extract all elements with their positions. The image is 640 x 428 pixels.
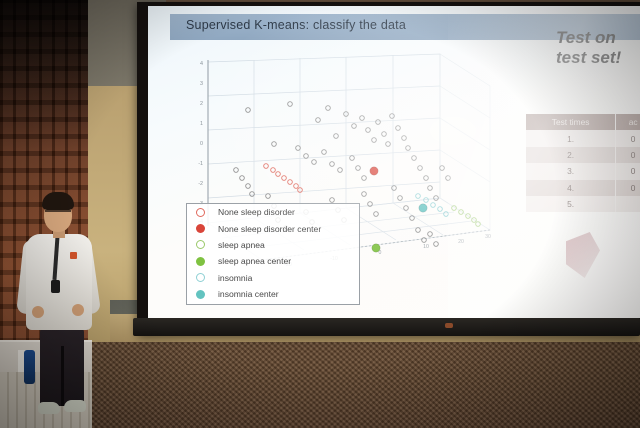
scatter-point (402, 136, 407, 141)
scatter-point (446, 176, 451, 181)
svg-text:-2: -2 (198, 181, 203, 187)
legend-row: insomnia center (187, 286, 359, 302)
legend-label: None sleep disorder center (218, 224, 321, 234)
cell-accuracy: 0 (616, 147, 640, 163)
scatter-point (386, 142, 391, 147)
scatter-point (366, 128, 371, 133)
cell-test-time: 3. (526, 163, 616, 179)
scatter-point (398, 196, 403, 201)
legend-marker-icon (196, 224, 205, 233)
table-header-test-times: Test times (526, 114, 616, 130)
scatter-point (419, 204, 427, 212)
scatter-point (322, 150, 327, 155)
glasses-icon (45, 210, 71, 217)
presenter (18, 188, 110, 428)
presenter-left-hand (32, 306, 44, 318)
svg-text:3: 3 (200, 81, 203, 87)
cell-test-time: 2. (526, 147, 616, 163)
svg-text:10: 10 (423, 244, 429, 250)
legend-label: insomnia center (218, 289, 279, 299)
scatter-point (362, 192, 367, 197)
y-axis-ticks: 43 21 0-1 -2-3 -4 (198, 61, 203, 225)
cell-accuracy (616, 196, 640, 212)
scatter-point (288, 180, 293, 185)
cell-accuracy: 0 (616, 163, 640, 179)
plot-right-wall-grid (440, 54, 490, 230)
scatter-point (362, 176, 367, 181)
legend-label: sleep apnea center (218, 256, 291, 266)
legend-marker-icon (196, 240, 205, 249)
legend-marker-icon (196, 257, 205, 266)
scatter-point (376, 120, 381, 125)
legend-label: None sleep disorder (218, 207, 295, 217)
presenter-left-shoe (38, 402, 60, 414)
cell-test-time: 5. (526, 196, 616, 212)
scatter-point (294, 184, 299, 189)
table-row: 2.0 (526, 147, 640, 163)
plot-legend: None sleep disorderNone sleep disorder c… (186, 203, 360, 305)
scatter-point (271, 168, 276, 173)
scatter-point (240, 176, 245, 181)
legend-row: insomnia (187, 270, 359, 286)
legend-row: sleep apnea center (187, 253, 359, 269)
svg-text:20: 20 (458, 239, 464, 245)
results-table: Test times ac 1.02.03.04.05. (526, 114, 640, 212)
scatter-point (424, 176, 429, 181)
scatter-point (330, 162, 335, 167)
scatter-point (272, 142, 277, 147)
plot-gridlines (208, 54, 440, 223)
slide-title: Supervised K-means: classify the data (186, 18, 566, 32)
scatter-point (316, 118, 321, 123)
scatter-point (428, 232, 433, 237)
scatter-point (382, 132, 387, 137)
screen-bottom-bar (133, 318, 640, 336)
legend-label: insomnia (218, 273, 252, 283)
scatter-point (250, 192, 255, 197)
scatter-point (326, 106, 331, 111)
legend-row: sleep apnea (187, 237, 359, 253)
scatter-point (246, 108, 251, 113)
scatter-point (404, 206, 409, 211)
scatter-point (412, 156, 417, 161)
scatter-point (428, 186, 433, 191)
svg-text:0: 0 (200, 141, 203, 147)
scatter-point (406, 146, 411, 151)
scatter-point (350, 156, 355, 161)
legend-marker-icon (196, 208, 205, 217)
scatter-point (234, 168, 239, 173)
scatter-point (390, 114, 395, 119)
scatter-point (264, 164, 269, 169)
svg-text:4: 4 (200, 61, 203, 67)
table-row: 5. (526, 196, 640, 212)
presenter-leg-split (61, 346, 64, 406)
scatter-point (444, 212, 449, 217)
presentation-slide: Supervised K-means: classify the data (148, 6, 640, 318)
decorative-arrow-shape (566, 232, 600, 278)
screenshot-root: Supervised K-means: classify the data (0, 0, 640, 428)
legend-row: None sleep disorder (187, 204, 359, 220)
legend-row: None sleep disorder center (187, 220, 359, 236)
cell-test-time: 1. (526, 130, 616, 146)
legend-marker-icon (196, 290, 205, 299)
cell-test-time: 4. (526, 180, 616, 196)
water-bottle (24, 350, 35, 384)
presenter-shirt-logo (70, 252, 77, 259)
scatter-point (416, 194, 421, 199)
svg-text:-1: -1 (198, 161, 203, 167)
scatter-point (459, 210, 464, 215)
presenter-hair (42, 192, 74, 210)
scatter-point (352, 124, 357, 129)
callout-line-2: test set! (556, 48, 640, 68)
scatter-point (440, 166, 445, 171)
scatter-point (431, 203, 436, 208)
scatter-point (372, 244, 380, 252)
callout-line-1: Test on (556, 28, 640, 48)
cell-accuracy: 0 (616, 130, 640, 146)
presenter-right-hand (72, 304, 84, 316)
scatter-point (360, 116, 365, 121)
scatter-point (282, 176, 287, 181)
scatter-point (356, 166, 361, 171)
svg-text:1: 1 (200, 121, 203, 127)
scatter-point (288, 102, 293, 107)
scatter-point (312, 160, 317, 165)
scatter-point (266, 194, 271, 199)
scatter-point (374, 212, 379, 217)
scatter-point (418, 166, 423, 171)
scatter-point (304, 154, 309, 159)
scatter-point (296, 146, 301, 151)
scatter-point (338, 168, 343, 173)
table-body: 1.02.03.04.05. (526, 130, 640, 212)
callout-text: Test on test set! (556, 28, 640, 67)
table-header-accuracy: ac (616, 114, 640, 130)
scatter-point (330, 198, 335, 203)
presenter-right-shoe (64, 400, 86, 412)
table-row: 3.0 (526, 163, 640, 179)
table-row: 4.0 (526, 180, 640, 196)
svg-text:2: 2 (200, 101, 203, 107)
presenter-badge (51, 280, 60, 293)
scatter-point (276, 172, 281, 177)
scatter-point (396, 126, 401, 131)
scatter-point (392, 186, 397, 191)
scatter-point (438, 207, 443, 212)
cell-accuracy: 0 (616, 180, 640, 196)
table-row: 1.0 (526, 130, 640, 146)
scatter-point (334, 134, 339, 139)
legend-marker-icon (196, 273, 205, 282)
svg-text:30: 30 (485, 234, 491, 240)
scatter-point (372, 138, 377, 143)
scatter-point (370, 167, 378, 175)
legend-label: sleep apnea (218, 240, 265, 250)
scatter-point (434, 242, 439, 247)
scatter-point (246, 184, 251, 189)
screen-bottom-marker (445, 323, 453, 328)
table-header-row: Test times ac (526, 114, 640, 130)
scatter-point (416, 228, 421, 233)
